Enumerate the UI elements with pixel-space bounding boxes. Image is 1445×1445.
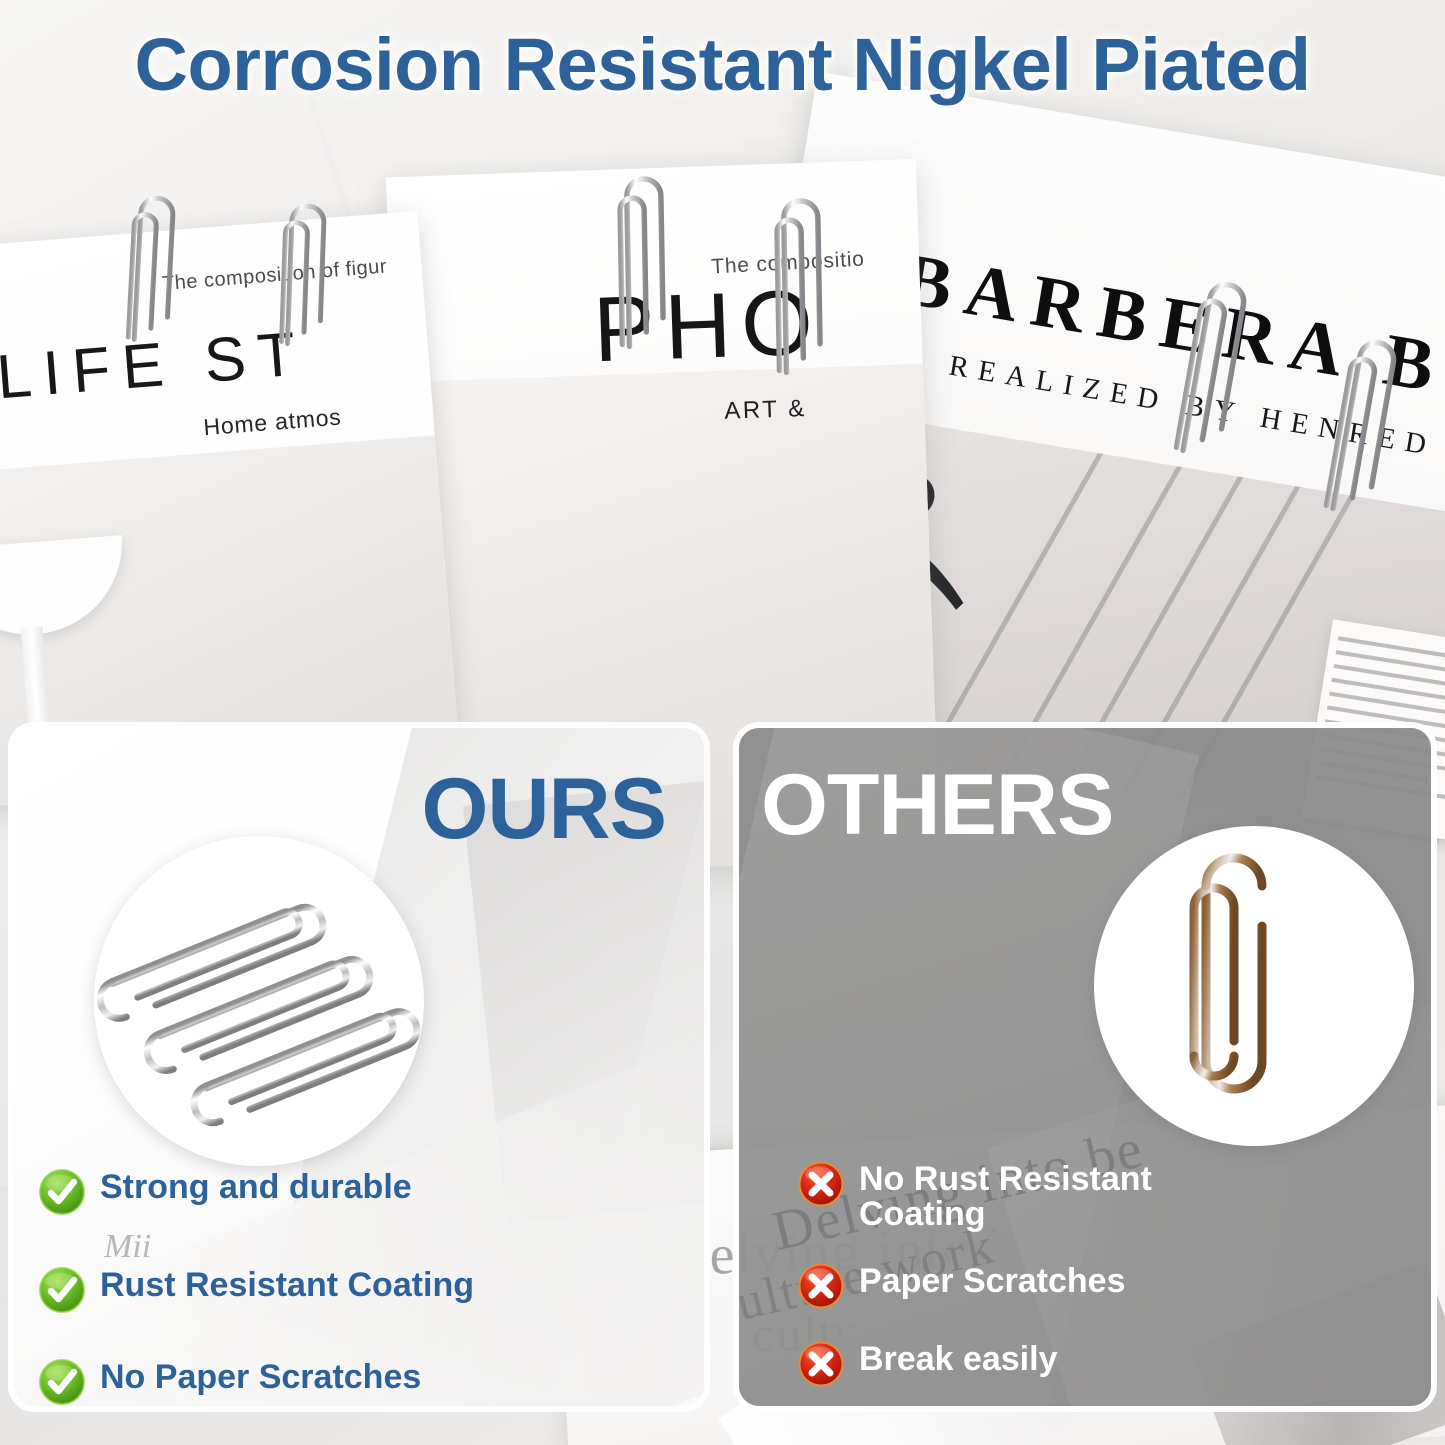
paper-clip-4 <box>753 189 842 380</box>
feature-item: No Paper Scratches <box>38 1356 704 1406</box>
feature-label: Strong and durable <box>100 1166 412 1205</box>
ours-feature-list: Strong and durable Rust Resistant Coatin… <box>14 1166 704 1412</box>
feature-item: No Rust Resistant Coating <box>797 1158 1431 1232</box>
magazine-lifestyle-subtitle: Home atmos <box>202 404 342 442</box>
feature-label: No Paper Scratches <box>100 1356 421 1395</box>
others-product-thumbnail <box>1094 826 1414 1146</box>
panel-ours: OURS <box>8 722 710 1412</box>
page-title: Corrosion Resistant Nigkel Piated <box>0 22 1445 107</box>
feature-item: Strong and durable <box>38 1166 704 1216</box>
cross-icon <box>797 1262 845 1310</box>
check-icon <box>38 1358 86 1406</box>
panel-others: Delving into be culture work OTHERS <box>733 722 1437 1412</box>
others-feature-list: No Rust Resistant Coating Paper Scratche… <box>739 1158 1431 1412</box>
feature-label: Break easily <box>859 1338 1058 1377</box>
feature-label: Paper Scratches <box>859 1260 1126 1299</box>
feature-item: Paper Scratches <box>797 1260 1431 1310</box>
feature-label: No Rust Resistant Coating <box>859 1158 1179 1232</box>
feature-label: Rust Resistant Coating <box>100 1264 474 1303</box>
lamp-shape <box>0 535 129 641</box>
paper-clip-2 <box>259 195 344 353</box>
ours-label: OURS <box>422 760 666 859</box>
paper-clip-1 <box>106 186 194 350</box>
check-icon <box>38 1266 86 1314</box>
check-icon <box>38 1168 86 1216</box>
magazine-photo-subtitle: ART & <box>724 395 807 426</box>
ours-product-thumbnail <box>94 836 424 1166</box>
infographic-canvas: BARBERA B REALIZED BY HENRED The composi… <box>0 0 1445 1445</box>
feature-item: Rust Resistant Coating <box>38 1264 704 1314</box>
cross-icon <box>797 1340 845 1388</box>
others-label: OTHERS <box>761 756 1113 855</box>
paper-clip-3 <box>596 167 685 353</box>
feature-item: Break easily <box>797 1338 1431 1388</box>
cross-icon <box>797 1160 845 1208</box>
